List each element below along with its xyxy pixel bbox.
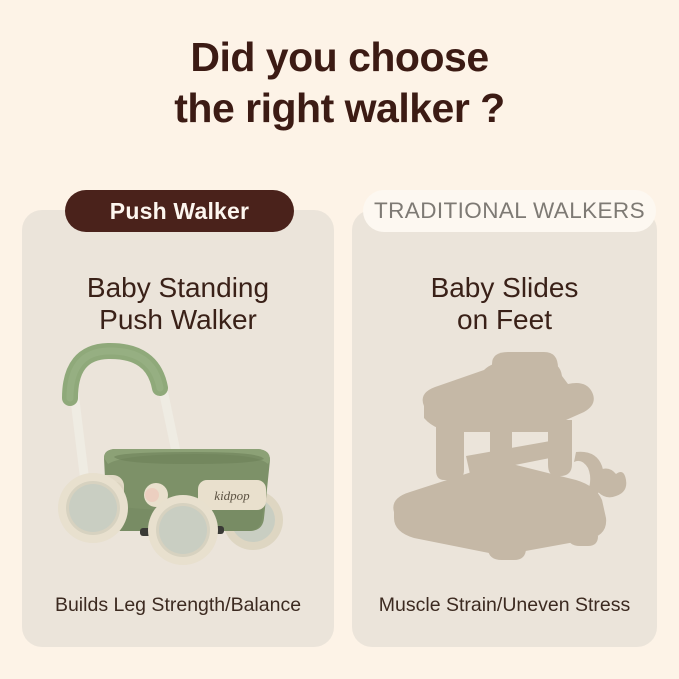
card-push-walker: Baby Standing Push Walker (22, 210, 334, 647)
green-push-walker-image: kidpop (48, 340, 308, 575)
brand-label: kidpop (214, 488, 250, 503)
page-title: Did you choose the right walker ? (0, 32, 679, 134)
push-walker-illustration: kidpop (22, 340, 334, 590)
badge-traditional-walkers[interactable]: TRADITIONAL WALKERS (363, 190, 656, 232)
card-caption-push-walker: Builds Leg Strength/Balance (22, 594, 334, 617)
page-title-line-2: the right walker ? (0, 83, 679, 134)
card-caption-traditional-walker: Muscle Strain/Uneven Stress (352, 594, 657, 617)
infographic-page: Did you choose the right walker ? Baby S… (0, 0, 679, 679)
badge-push-walker[interactable]: Push Walker (65, 190, 294, 232)
traditional-walker-illustration (352, 340, 657, 590)
card-heading-traditional-walker: Baby Slides on Feet (352, 272, 657, 336)
card-heading-traditional-walker-line-1: Baby Slides (352, 272, 657, 304)
card-heading-traditional-walker-line-2: on Feet (352, 304, 657, 336)
card-heading-push-walker: Baby Standing Push Walker (22, 272, 334, 336)
card-heading-push-walker-line-1: Baby Standing (22, 272, 334, 304)
badge-push-walker-label: Push Walker (110, 198, 249, 225)
card-heading-push-walker-line-2: Push Walker (22, 304, 334, 336)
traditional-walker-silhouette-image (380, 340, 630, 575)
badge-traditional-walkers-label: TRADITIONAL WALKERS (374, 198, 645, 224)
page-title-line-1: Did you choose (0, 32, 679, 83)
card-traditional-walker: Baby Slides on Feet (352, 210, 657, 647)
comparison-cards: Baby Standing Push Walker (22, 210, 657, 647)
